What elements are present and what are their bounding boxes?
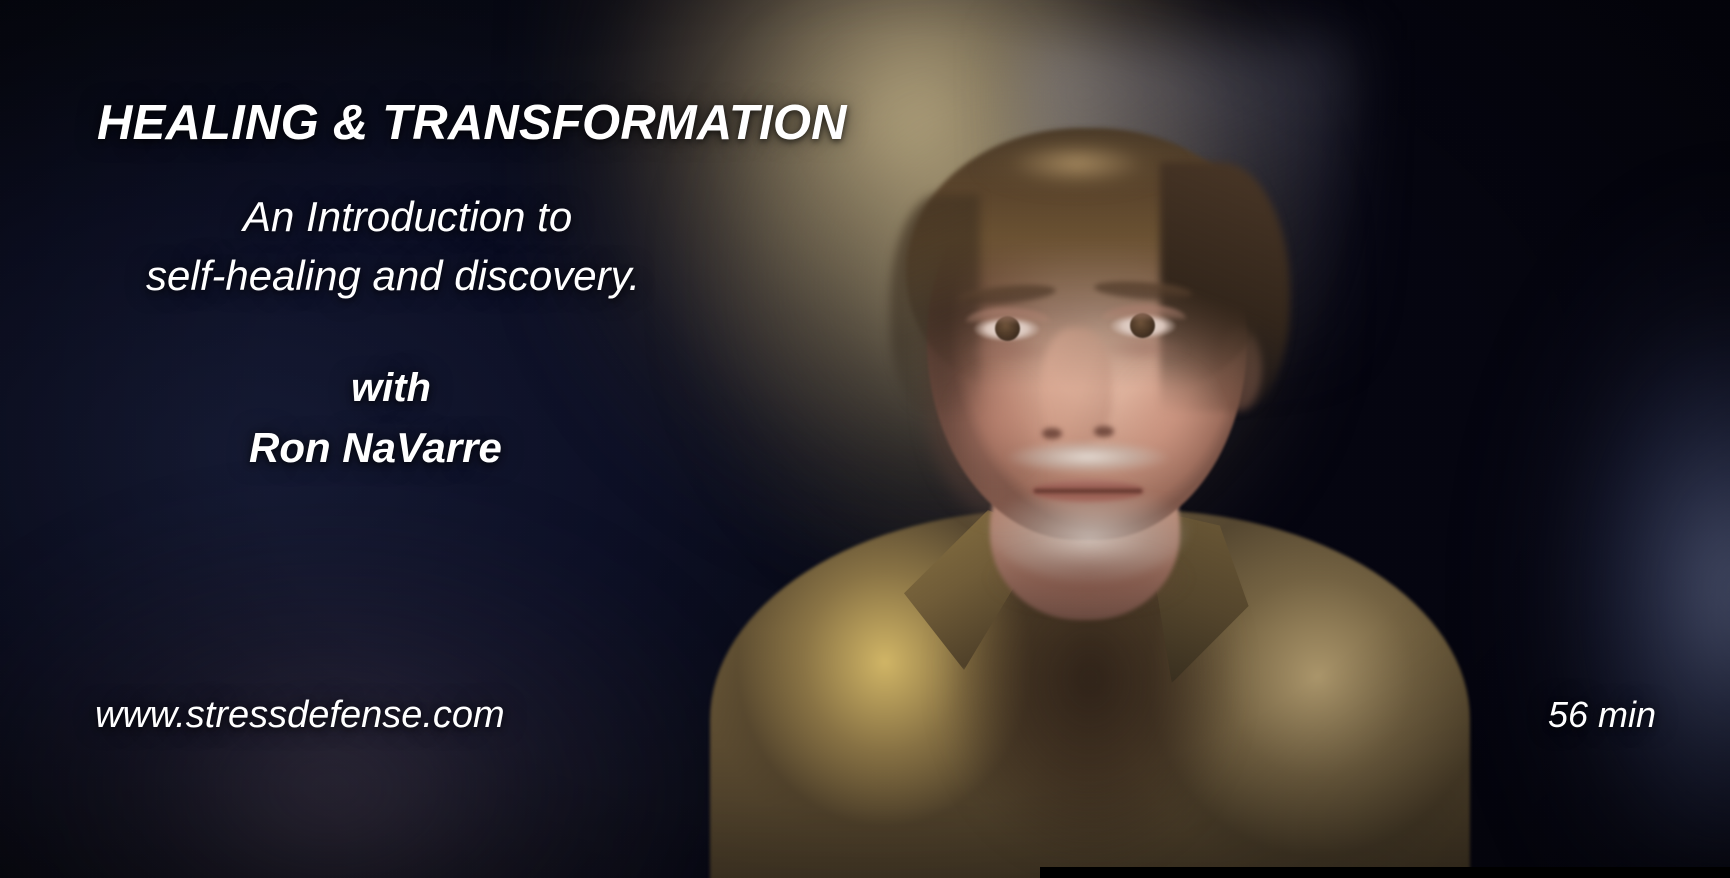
video-title-slide: HEALING & TRANSFORMATION An Introduction… (0, 0, 1730, 878)
slide-subtitle-line-2: self-healing and discovery. (146, 252, 640, 300)
duration-label: 56 min (1548, 694, 1656, 736)
website-url: www.stressdefense.com (95, 694, 505, 737)
presenter-with-label: with (351, 366, 431, 411)
letterbox-bar (1040, 867, 1730, 878)
slide-subtitle-line-1: An Introduction to (243, 193, 572, 241)
presenter-name: Ron NaVarre (249, 424, 502, 472)
slide-title: HEALING & TRANSFORMATION (97, 95, 847, 151)
